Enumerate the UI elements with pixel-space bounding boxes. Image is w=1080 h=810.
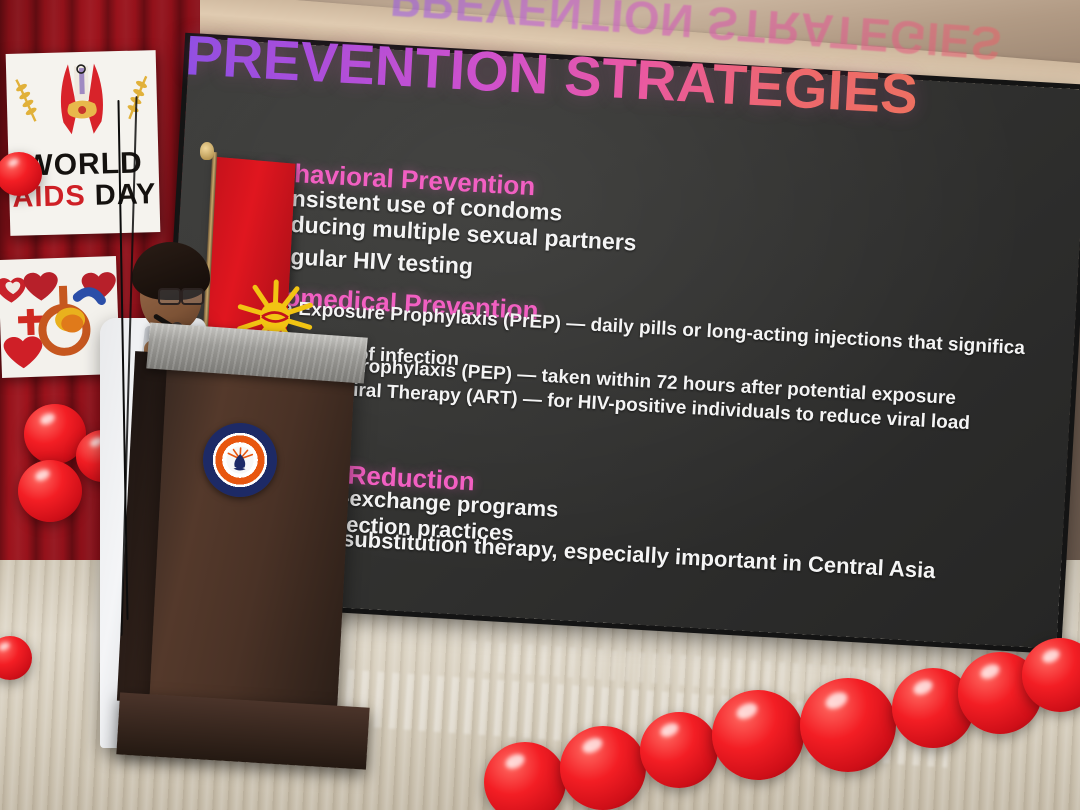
balloon xyxy=(560,726,646,810)
balloon xyxy=(640,712,718,788)
bullet-c-3: Opioid substitution therapy, especially … xyxy=(266,522,936,584)
aids-ribbon-icon xyxy=(38,59,126,147)
university-seal-emblem xyxy=(224,444,256,476)
slide-title: PREVENTION STRATEGIES xyxy=(184,22,920,127)
balloon xyxy=(800,678,896,772)
balloon xyxy=(18,460,82,522)
podium-front xyxy=(149,363,355,712)
poster-word-day: DAY xyxy=(94,178,156,212)
wheat-left-icon xyxy=(12,77,45,124)
flag-pole-finial xyxy=(200,142,214,160)
poster-world-aids-day: WORLD AIDS DAY xyxy=(6,50,161,236)
balloon xyxy=(712,690,804,780)
eyeglasses-icon xyxy=(158,288,204,302)
photo-scene: PREVENTION STRATEGIES PREVENTION STRATEG… xyxy=(0,0,1080,810)
